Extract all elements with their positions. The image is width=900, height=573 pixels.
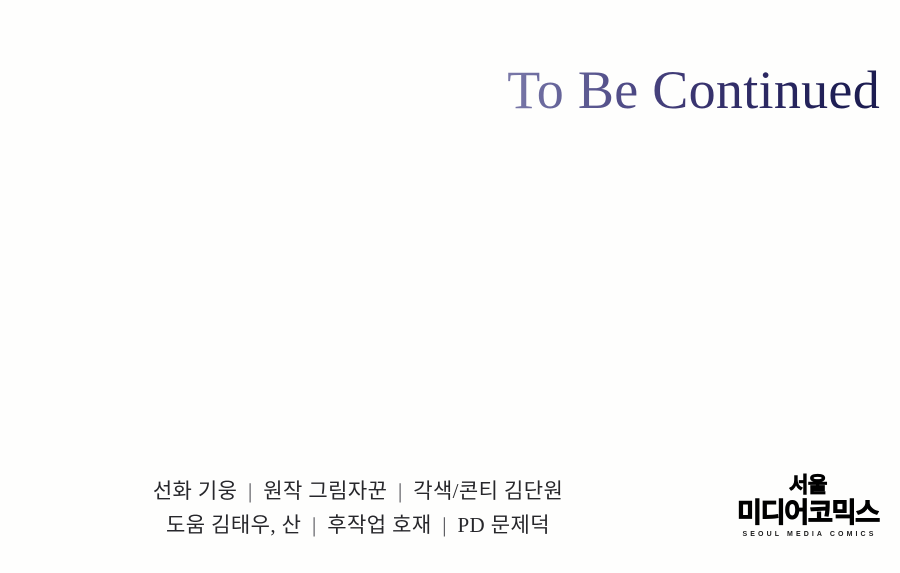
credit-segment-name: 그림자꾼 bbox=[308, 474, 387, 508]
credit-segment-name: 기웅 bbox=[198, 474, 237, 508]
credit-segment-role: 각색/콘티 bbox=[413, 474, 498, 508]
credit-separator: | bbox=[243, 474, 258, 508]
credit-segment-name: 문제덕 bbox=[491, 508, 550, 542]
credit-segment-role: PD bbox=[457, 508, 485, 542]
credit-segment-role: 원작 bbox=[263, 474, 302, 508]
publisher-logo-line-sub: SEOUL MEDIA COMICS bbox=[728, 531, 888, 538]
credit-segment-name: 김태우, 산 bbox=[211, 508, 301, 542]
publisher-logo-line-top: 서울 bbox=[728, 474, 888, 498]
credits-block: 선화 기웅 | 원작 그림자꾼 | 각색/콘티 김단원 도움 김태우, 산 | … bbox=[0, 474, 716, 542]
credit-line: 선화 기웅 | 원작 그림자꾼 | 각색/콘티 김단원 bbox=[0, 474, 716, 508]
credit-line: 도움 김태우, 산 | 후작업 호재 | PD 문제덕 bbox=[0, 508, 716, 542]
credit-segment-name: 김단원 bbox=[504, 474, 563, 508]
credit-segment-role: 후작업 bbox=[327, 508, 386, 542]
comic-end-page: To Be Continued 선화 기웅 | 원작 그림자꾼 | 각색/콘티 … bbox=[0, 0, 900, 573]
publisher-logo-line-main: 미디어코믹스 bbox=[728, 499, 888, 528]
credit-segment-role: 도움 bbox=[166, 508, 205, 542]
credit-separator: | bbox=[393, 474, 408, 508]
publisher-logo: 서울 미디어코믹스 SEOUL MEDIA COMICS bbox=[728, 474, 888, 538]
credit-separator: | bbox=[307, 508, 322, 542]
to-be-continued-title: To Be Continued bbox=[0, 62, 880, 119]
credit-segment-role: 선화 bbox=[153, 474, 192, 508]
credit-separator: | bbox=[437, 508, 452, 542]
credit-segment-name: 호재 bbox=[392, 508, 431, 542]
title-text: To Be Continued bbox=[507, 62, 880, 119]
